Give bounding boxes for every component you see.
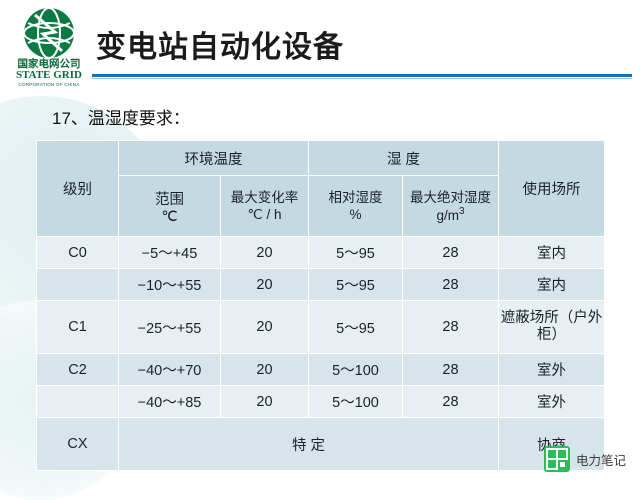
header-max-change-rate-unit: ℃ / h <box>222 206 307 223</box>
header-max-absolute-humidity-exponent: 3 <box>459 206 465 217</box>
header-range-label: 范围 <box>120 188 219 209</box>
cell-level <box>37 386 119 418</box>
table-row: CX 特 定 协商 <box>37 418 605 471</box>
wechat-qr-icon <box>544 446 570 472</box>
table-row: C1 −25～+55 20 5～95 28 遮蔽场所（户外柜） <box>37 301 605 354</box>
cell-range: −40～+70 <box>119 354 221 386</box>
cell-absolute-humidity: 28 <box>403 354 499 386</box>
cell-change-rate: 20 <box>221 269 309 301</box>
page-title: 变电站自动化设备 <box>96 22 344 66</box>
title-underline-secondary <box>92 78 632 79</box>
wechat-account-name: 电力笔记 <box>576 450 626 469</box>
cell-range: −5～+45 <box>119 237 221 269</box>
cell-location: 室外 <box>499 386 605 418</box>
cell-location: 室外 <box>499 354 605 386</box>
cell-relative-humidity: 5～100 <box>309 386 403 418</box>
cell-location: 室内 <box>499 237 605 269</box>
header-max-absolute-humidity-label: 最大绝对湿度g/m <box>410 190 491 223</box>
temperature-humidity-table-wrapper: 级别 环境温度 湿 度 使用场所 范围 ℃ 最大变化率 ℃ / h 相对湿度 % <box>36 140 604 471</box>
cell-level: C0 <box>37 237 119 269</box>
cell-level <box>37 269 119 301</box>
logo-english-name: STATE GRID <box>8 70 90 81</box>
header-humidity: 湿 度 <box>309 141 499 176</box>
cell-special: 特 定 <box>119 418 499 471</box>
logo-english-subtitle: CORPORATION OF CHINA <box>8 81 90 88</box>
cell-range: −40～+85 <box>119 386 221 418</box>
cell-absolute-humidity: 28 <box>403 386 499 418</box>
table-header-row-groups: 级别 环境温度 湿 度 使用场所 <box>37 141 605 176</box>
header-relative-humidity-unit: % <box>310 206 401 223</box>
state-grid-logo: 国家电网公司 STATE GRID CORPORATION OF CHINA <box>8 6 90 86</box>
table-row: −40～+85 20 5～100 28 室外 <box>37 386 605 418</box>
cell-range: −25～+55 <box>119 301 221 354</box>
header-max-change-rate: 最大变化率 ℃ / h <box>221 176 309 237</box>
cell-absolute-humidity: 28 <box>403 301 499 354</box>
header-range: 范围 ℃ <box>119 176 221 237</box>
cell-absolute-humidity: 28 <box>403 269 499 301</box>
header-usage-location: 使用场所 <box>499 141 605 237</box>
header-environment-temperature: 环境温度 <box>119 141 309 176</box>
cell-change-rate: 20 <box>221 237 309 269</box>
slide-header: 国家电网公司 STATE GRID CORPORATION OF CHINA 变… <box>0 0 640 88</box>
cell-level: CX <box>37 418 119 471</box>
cell-relative-humidity: 5～100 <box>309 354 403 386</box>
header-max-change-rate-label: 最大变化率 <box>222 189 307 206</box>
section-heading: 17、温湿度要求： <box>52 104 190 129</box>
cell-relative-humidity: 5～95 <box>309 269 403 301</box>
cell-relative-humidity: 5～95 <box>309 237 403 269</box>
cell-relative-humidity: 5～95 <box>309 301 403 354</box>
state-grid-globe-icon <box>22 6 76 60</box>
header-level: 级别 <box>37 141 119 237</box>
cell-change-rate: 20 <box>221 301 309 354</box>
header-relative-humidity: 相对湿度 % <box>309 176 403 237</box>
cell-change-rate: 20 <box>221 386 309 418</box>
cell-location: 室内 <box>499 269 605 301</box>
wechat-footer: 电力笔记 <box>544 446 626 472</box>
title-underline <box>92 74 632 77</box>
table-row: C0 −5～+45 20 5～95 28 室内 <box>37 237 605 269</box>
table-row: C2 −40～+70 20 5～100 28 室外 <box>37 354 605 386</box>
cell-range: −10～+55 <box>119 269 221 301</box>
cell-location: 遮蔽场所（户外柜） <box>499 301 605 354</box>
cell-change-rate: 20 <box>221 354 309 386</box>
cell-level: C2 <box>37 354 119 386</box>
header-range-unit: ℃ <box>120 209 219 225</box>
cell-level: C1 <box>37 301 119 354</box>
header-max-absolute-humidity: 最大绝对湿度g/m3 <box>403 176 499 237</box>
temperature-humidity-table: 级别 环境温度 湿 度 使用场所 范围 ℃ 最大变化率 ℃ / h 相对湿度 % <box>36 140 605 471</box>
cell-absolute-humidity: 28 <box>403 237 499 269</box>
header-relative-humidity-label: 相对湿度 <box>310 189 401 206</box>
table-row: −10～+55 20 5～95 28 室内 <box>37 269 605 301</box>
